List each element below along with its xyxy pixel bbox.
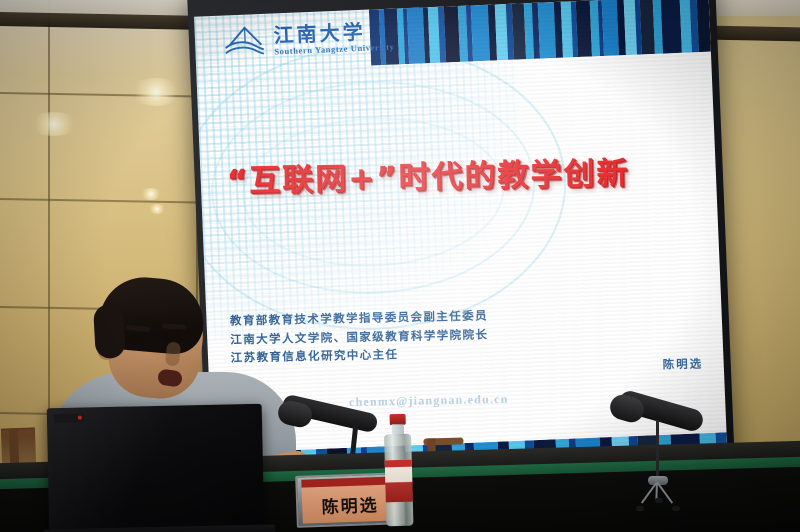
lecture-photo-scene: 江南大学 Southern Yangtze University “互联网+”时… (0, 0, 800, 532)
microphone-right (608, 396, 738, 528)
bottle-label (385, 460, 413, 503)
nameplate-card: 陈明选 (302, 484, 399, 523)
microphone-tripod-foot (655, 498, 663, 503)
microphone-left (282, 398, 392, 468)
university-names: 江南大学 Southern Yangtze University (273, 20, 394, 55)
speaker-hair (97, 274, 207, 357)
ceiling-light-reflection (130, 78, 182, 106)
microphone-stem (656, 420, 659, 480)
laptop-logo-badge (54, 413, 84, 423)
bottle-label-band (385, 460, 412, 468)
microphone-tripod-foot (636, 506, 644, 511)
water-bottle (384, 414, 414, 527)
slide-presenter-name: 陈明选 (662, 356, 703, 373)
slide-subtitle: 教育部教育技术学教学指导委员会副主任委员 江南大学人文学院、国家级教育科学学院院… (230, 302, 705, 367)
ceiling-light-reflection (140, 188, 162, 200)
slide-title: “互联网+”时代的教学创新 (226, 146, 701, 201)
ceiling-light-reflection (30, 112, 78, 136)
decor-bar (696, 0, 711, 52)
speaker-eye (163, 333, 182, 341)
laptop-logo-dot (78, 416, 82, 420)
decor-bar (661, 0, 682, 54)
laptop-lid (47, 404, 265, 532)
ceiling-light-reflection (148, 204, 166, 214)
microphone-tripod-foot (672, 506, 680, 511)
laptop-computer[interactable] (47, 404, 265, 532)
jiangnan-university-logo-icon (222, 24, 267, 60)
nameplate-text: 陈明选 (321, 491, 379, 518)
